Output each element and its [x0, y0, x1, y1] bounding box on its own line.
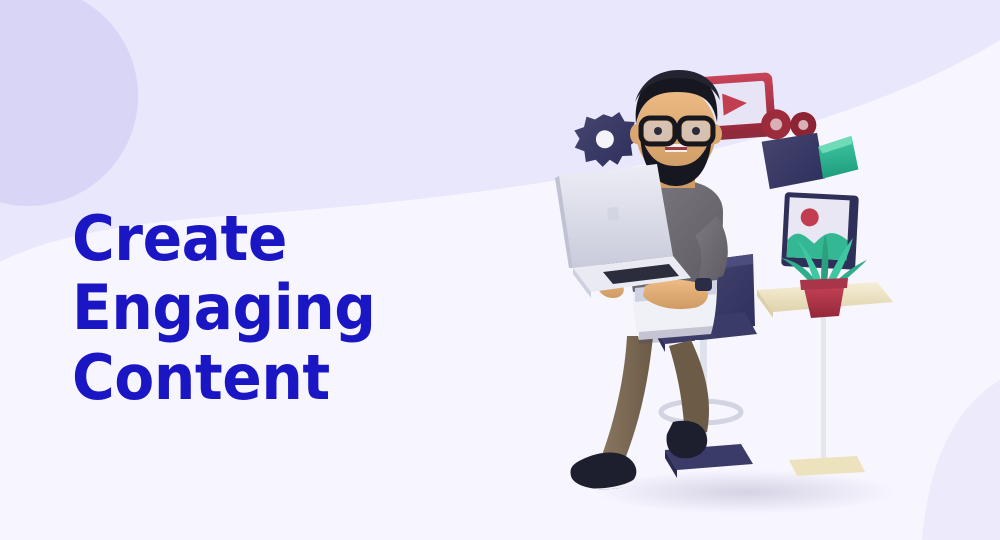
ground-shadow	[595, 470, 895, 514]
photo-frame-icon	[781, 192, 859, 270]
page-title: Create Engaging Content	[72, 204, 514, 412]
hero-banner: Create Engaging Content	[0, 0, 1000, 540]
wristwatch	[695, 278, 712, 291]
content-creator-illustration	[545, 40, 945, 520]
movie-camera-icon	[759, 103, 860, 190]
